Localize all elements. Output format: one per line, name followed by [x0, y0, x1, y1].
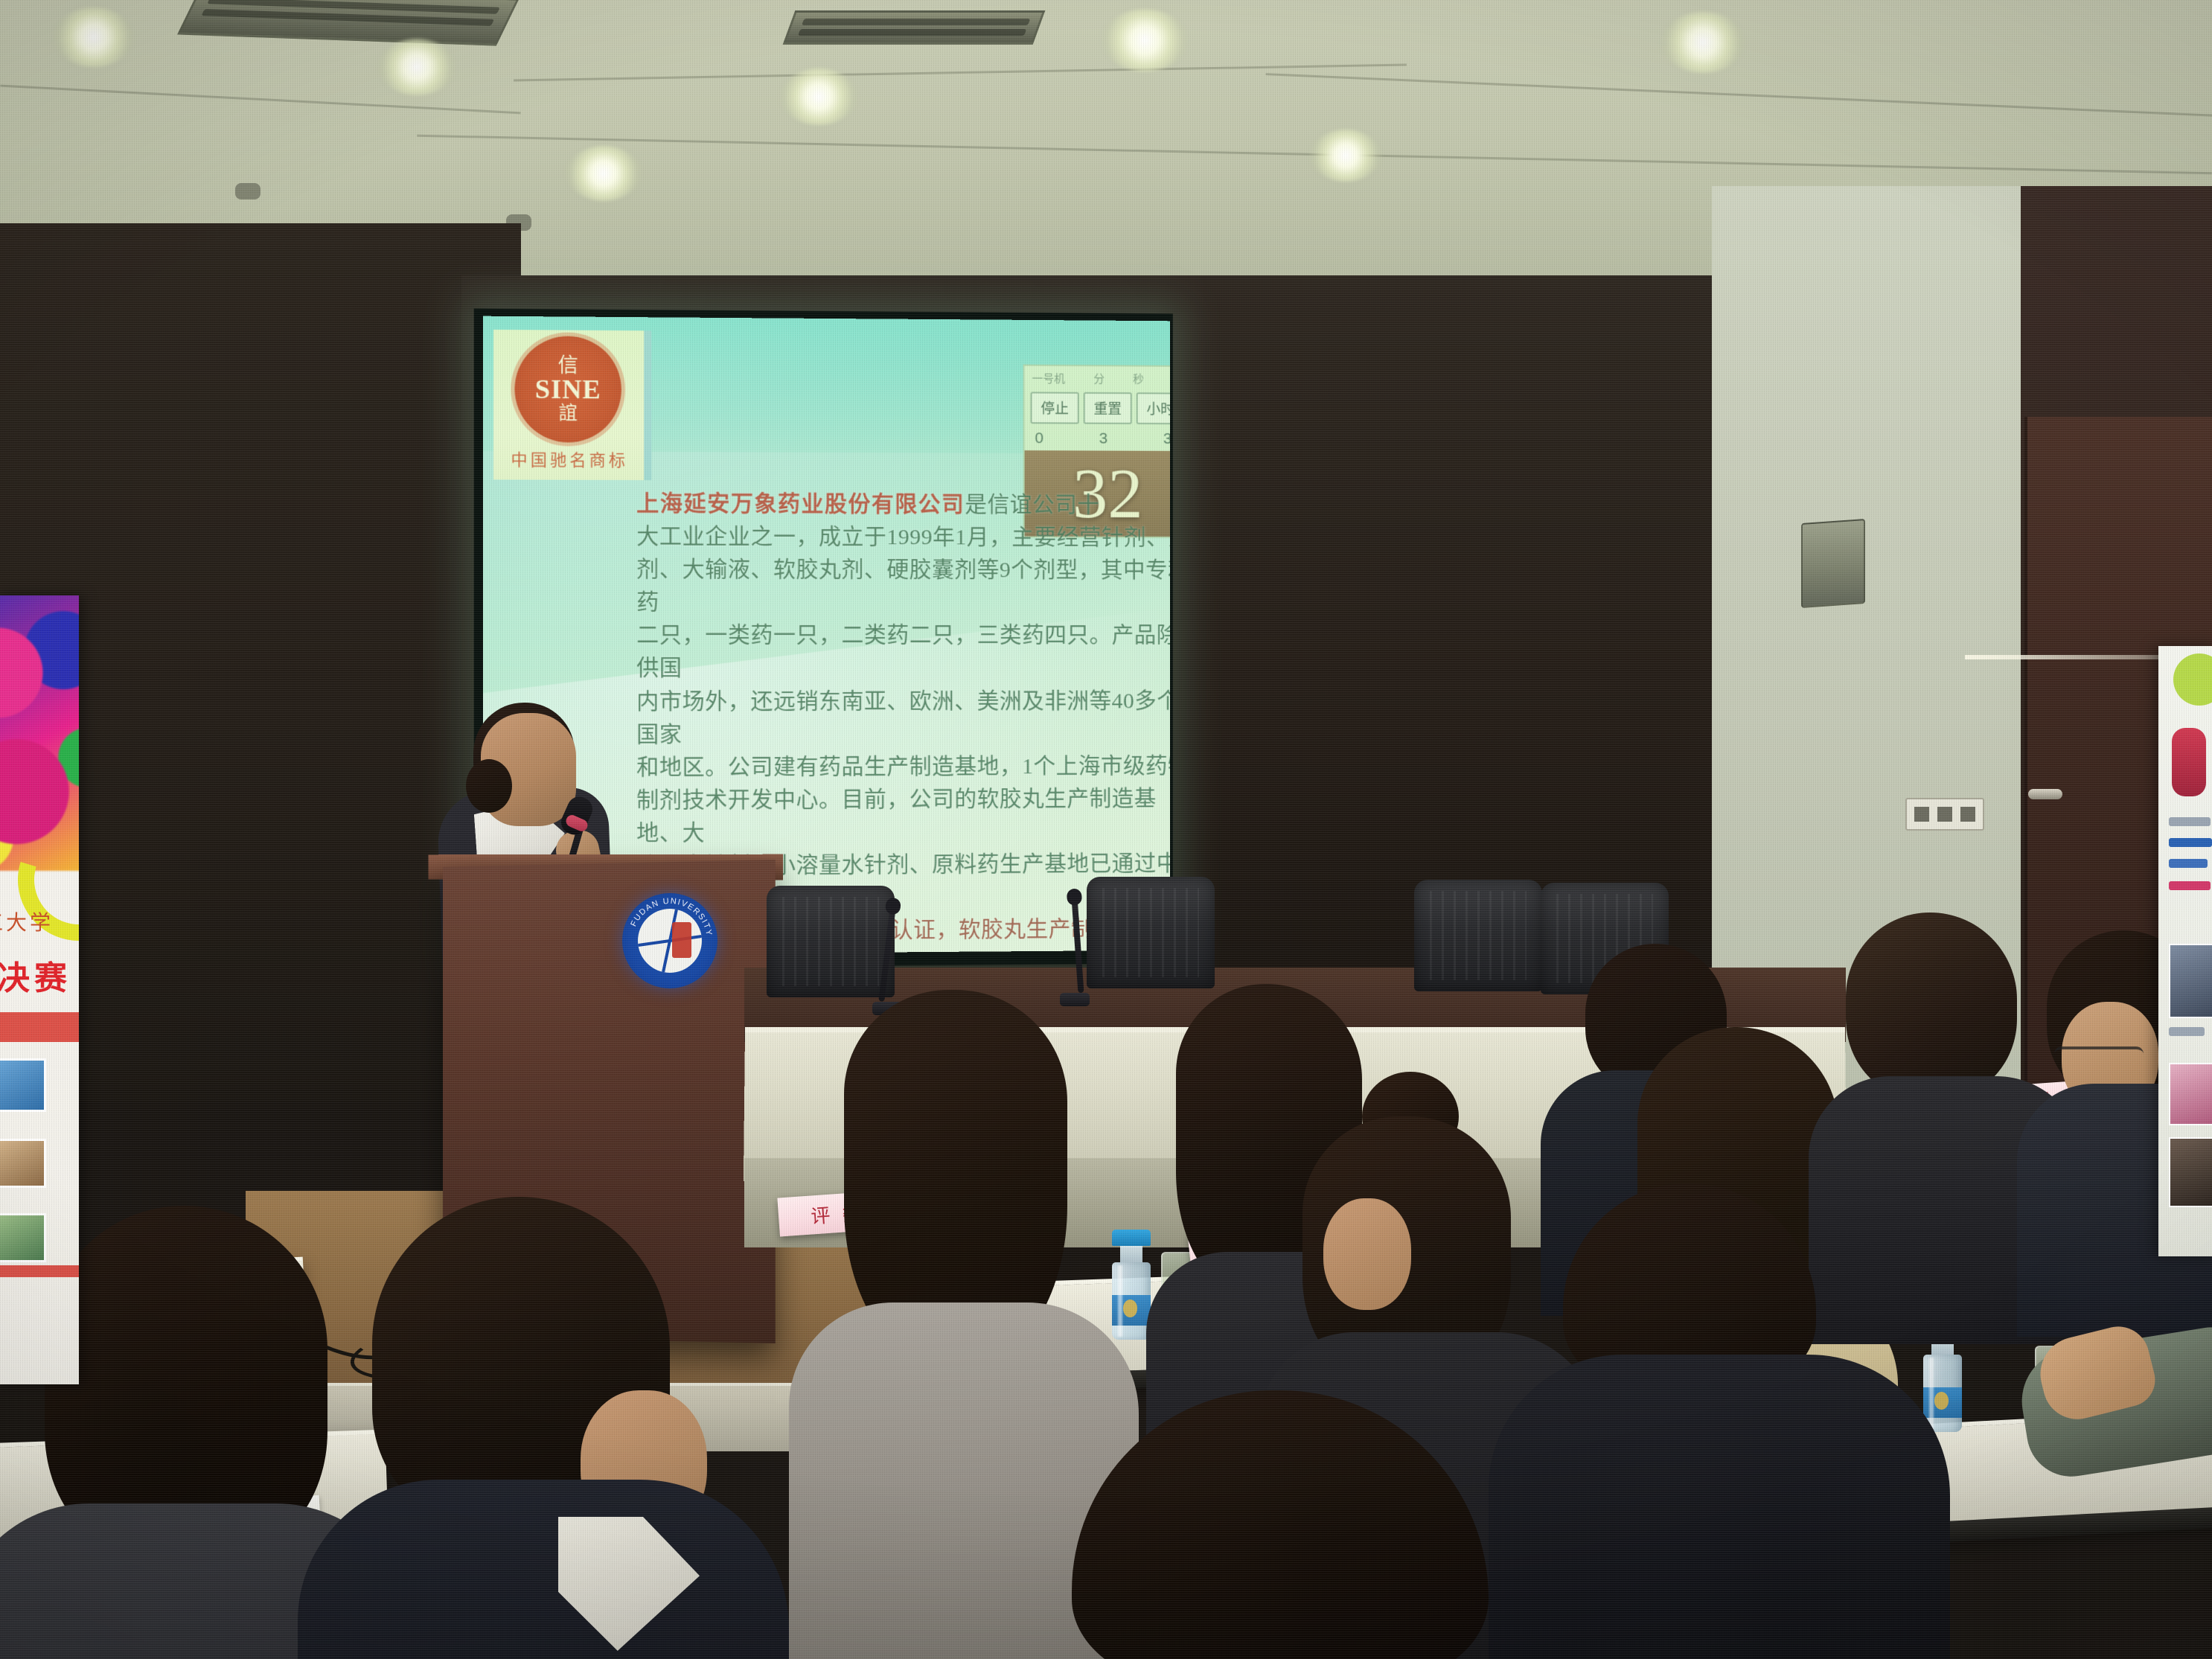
ceiling-downlight — [566, 146, 642, 201]
ceiling-downlight — [780, 68, 857, 125]
judge-chair[interactable] — [767, 886, 895, 997]
banner-photo — [0, 1213, 46, 1262]
timer-header-min: 分 — [1093, 371, 1105, 386]
svg-text:FUDAN UNIVERSITY: FUDAN UNIVERSITY — [629, 897, 713, 937]
audience-face — [1323, 1198, 1411, 1310]
audience-torso — [1489, 1355, 1950, 1659]
slide-logo-block: 信 SINE 誼 中国驰名商标 — [493, 330, 651, 480]
ceiling-downlight — [378, 39, 455, 95]
microphone-base — [1060, 993, 1090, 1006]
door-handle[interactable] — [2028, 789, 2062, 799]
presenter-hair-bun — [466, 759, 512, 813]
timer-field-hours[interactable]: 0 — [1035, 429, 1043, 447]
poster-photo — [2169, 1063, 2212, 1125]
banner-photo — [0, 1058, 46, 1112]
sine-seal-logo: 信 SINE 誼 — [514, 336, 621, 443]
slide-line-4: 内市场外，还远销东南亚、欧洲、美洲及非洲等40多个国家 — [636, 685, 1170, 751]
crest-ring-text: FUDAN UNIVERSITY — [622, 893, 717, 988]
timer-field-row: 0 3 30 — [1025, 426, 1170, 448]
smoke-detector-icon — [235, 183, 260, 199]
slide-line-6: 制剂技术开发中心。目前，公司的软胶丸生产制造基地、大 — [636, 782, 1170, 850]
poster-circle-graphic — [2173, 653, 2212, 706]
poster-text-line — [2169, 1027, 2205, 1036]
event-poster-right — [2158, 646, 2212, 1256]
slide-company-heading: 上海延安万象药业股份有限公司 — [636, 491, 965, 517]
ceiling-downlight — [1102, 9, 1188, 71]
judge-chair[interactable] — [1414, 880, 1542, 991]
seal-brand-text: SINE — [535, 376, 601, 405]
timer-reset-button[interactable]: 重置 — [1084, 392, 1132, 424]
poster-text-line — [2169, 859, 2208, 868]
timer-header: 一号机 分 秒 时 — [1025, 366, 1170, 387]
poster-photo — [2169, 1137, 2212, 1207]
event-banner-left: 工大学 赛决赛 — [0, 595, 79, 1384]
ceiling-downlight — [54, 7, 134, 67]
timer-hour-button[interactable]: 小时 — [1137, 392, 1170, 424]
banner-photo — [0, 1139, 46, 1188]
audience-hair — [1846, 912, 2017, 1099]
light-switch-panel[interactable] — [1905, 798, 1984, 831]
fudan-university-crest-icon: FUDAN UNIVERSITY — [622, 893, 717, 988]
timer-button-row: 停止 重置 小时 — [1025, 386, 1170, 427]
slide-logo-caption: 中国驰名商标 — [498, 447, 641, 471]
timer-field-seconds[interactable]: 30 — [1163, 430, 1170, 448]
slide-line-2: 剂、大输液、软胶丸剂、硬胶囊剂等9个剂型，其中专利药 — [636, 554, 1170, 620]
water-bottle[interactable] — [1112, 1230, 1151, 1340]
seal-top-char: 信 — [558, 356, 578, 376]
slide-line-1: 大工业企业之一，成立于1999年1月，主要经营针剂、片 — [636, 520, 1170, 554]
ceiling-downlight — [1310, 130, 1381, 182]
ceiling-air-vent-2 — [783, 10, 1046, 45]
banner-line-1: 工大学 — [0, 907, 79, 936]
banner-red-bar — [0, 1012, 79, 1042]
judge-chair[interactable] — [1087, 877, 1215, 988]
eyeglasses-icon — [2054, 1046, 2144, 1064]
timer-stop-button[interactable]: 停止 — [1031, 391, 1079, 423]
banner-line-2: 赛决赛 — [0, 951, 79, 999]
timer-header-sec: 秒 — [1133, 371, 1144, 386]
poster-figure-graphic — [2172, 728, 2206, 796]
slide-line-3: 二只，一类药一只，二类药二只，三类药四只。产品除供国 — [636, 619, 1170, 685]
conference-room-photo: 消防栓 信 SINE 誼 中国驰名商标 一号机 分 秒 时 停止 — [0, 0, 2212, 1659]
timer-field-minutes[interactable]: 3 — [1099, 430, 1108, 448]
banner-red-bar — [0, 1265, 79, 1277]
audience-torso — [298, 1480, 789, 1659]
slide-line-0: 是信谊公司十 — [965, 493, 1099, 517]
wall-speaker-icon — [1801, 519, 1865, 608]
ceiling-downlight — [1661, 12, 1745, 73]
timer-header-left: 一号机 — [1032, 371, 1065, 386]
seal-bottom-char: 誼 — [559, 404, 578, 423]
crest-ribbon — [672, 922, 691, 958]
poster-photo — [2169, 944, 2212, 1018]
poster-text-line — [2169, 881, 2211, 890]
slide-line-5: 和地区。公司建有药品生产制造基地，1个上海市级药物 — [636, 749, 1170, 784]
poster-text-line — [2169, 838, 2212, 847]
poster-text-line — [2169, 817, 2211, 826]
